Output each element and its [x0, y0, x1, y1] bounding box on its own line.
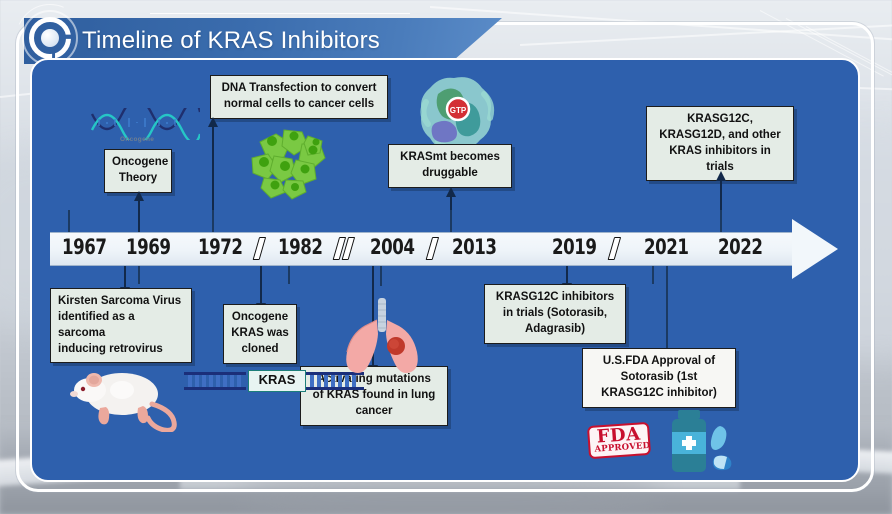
dna-helix-label: Oncogene — [120, 136, 154, 143]
box-line: KRASmt becomes — [396, 150, 504, 166]
tick-1967 — [68, 210, 70, 232]
tick-1969-lower — [138, 266, 140, 284]
axis-arrowhead — [792, 219, 838, 279]
axis-year-1972: 1972 — [198, 235, 243, 259]
callout-dna-transfection: DNA Transfection to convert normal cells… — [210, 75, 388, 119]
tick-2004 — [380, 266, 382, 286]
box-line: Theory — [112, 171, 164, 187]
lungs-with-tumor-icon — [334, 296, 430, 374]
box-line: in trials (Sotorasib, — [492, 306, 618, 322]
box-line: KRASG12D, and other — [654, 128, 786, 144]
timeline-panel: Oncogene — [30, 58, 860, 482]
header-hairline-top — [150, 13, 410, 14]
box-line: Kirsten Sarcoma Virus — [58, 294, 184, 310]
axis-year-2019: 2019 — [552, 235, 597, 259]
box-line: KRAS inhibitors in — [654, 144, 786, 160]
lab-mouse-icon — [60, 360, 180, 432]
axis-year-1967: 1967 — [62, 235, 107, 259]
axis-year-2022: 2022 — [718, 235, 763, 259]
box-line: Oncogene — [231, 310, 289, 326]
connector-1967-down — [124, 266, 126, 288]
box-line: Oncogene — [112, 155, 164, 171]
connector-1969 — [138, 200, 140, 232]
box-line: KRAS was — [231, 326, 289, 342]
box-line: KRASG12C inhibitor) — [590, 386, 728, 402]
fda-stamp-line2: APPROVED — [594, 442, 645, 454]
box-line: KRASG12C inhibitors — [492, 290, 618, 306]
connector-2021-down — [666, 266, 668, 350]
callout-kras-cloned: Oncogene KRAS was cloned — [223, 304, 297, 364]
callout-g12c-trials: KRASG12C inhibitors in trials (Sotorasib… — [484, 284, 626, 344]
callout-oncogene-theory: Oncogene Theory — [104, 149, 172, 193]
axis-year-2013: 2013 — [452, 235, 497, 259]
box-line: Adagrasib) — [492, 322, 618, 338]
connector-2019-down — [566, 266, 568, 284]
connector-1982-down — [260, 266, 262, 304]
box-line: identified as a sarcoma — [58, 310, 184, 342]
tick-2021 — [652, 266, 654, 284]
page-title: Timeline of KRAS Inhibitors — [82, 27, 380, 55]
box-line: KRASG12C, — [654, 112, 786, 128]
tick-2022 — [720, 210, 722, 232]
cancer-cells-cluster-icon — [240, 122, 340, 202]
tick-1982 — [288, 266, 290, 284]
box-line: inducing retrovirus — [58, 342, 184, 358]
axis-year-2004: 2004 — [370, 235, 415, 259]
infographic-stage: Timeline of KRAS Inhibitors Oncogene — [0, 0, 892, 514]
box-line: cancer — [308, 404, 440, 420]
box-line: DNA Transfection to convert — [218, 81, 380, 97]
box-line: Sotorasib (1st — [590, 370, 728, 386]
tick-2013 — [450, 210, 452, 232]
kras-gene-chip: KRAS — [248, 370, 306, 392]
fda-approved-stamp-icon: FDA APPROVED — [587, 422, 651, 459]
svg-text:GTP: GTP — [450, 106, 467, 115]
tick-1972 — [212, 210, 214, 232]
axis-year-1969: 1969 — [126, 235, 171, 259]
box-line: druggable — [396, 166, 504, 182]
callout-kirsten-virus: Kirsten Sarcoma Virus identified as a sa… — [50, 288, 192, 363]
axis-year-2021: 2021 — [644, 235, 689, 259]
medicine-bottle-and-pills-icon — [660, 410, 738, 476]
box-line: U.S.FDA Approval of — [590, 354, 728, 370]
box-line: cloned — [231, 342, 289, 358]
callout-krasmt-druggable: KRASmt becomes druggable — [388, 144, 512, 188]
callout-fda-approval: U.S.FDA Approval of Sotorasib (1st KRASG… — [582, 348, 736, 408]
box-line: normal cells to cancer cells — [218, 97, 380, 113]
timeline-axis: 1967 1969 1972 1982 2004 2013 2019 2021 … — [50, 232, 840, 266]
axis-year-1982: 1982 — [278, 235, 323, 259]
